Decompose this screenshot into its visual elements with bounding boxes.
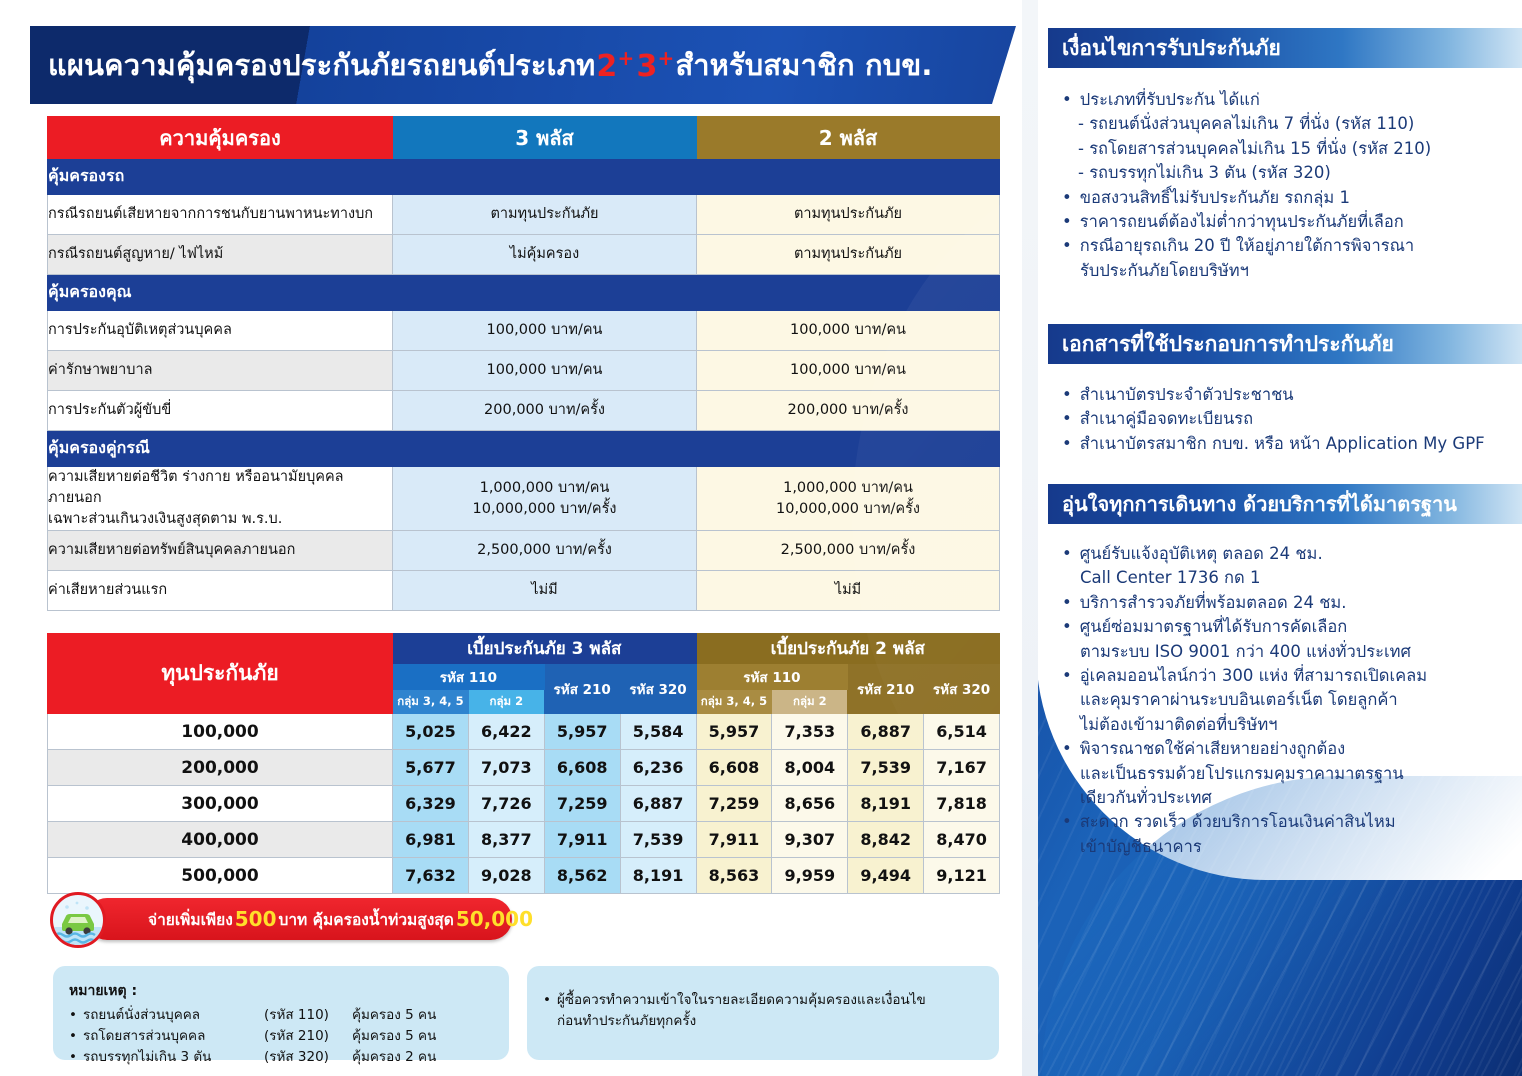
list-item: •ราคารถยนต์ต้องไม่ต่ำกว่าทุนประกันภัยที่… (1062, 210, 1522, 234)
coverage-row-label: ความเสียหายต่อทรัพย์สินบุคคลภายนอก (48, 531, 393, 571)
premium-g2-group345: กลุ่ม 3, 4, 5 (696, 690, 772, 714)
list-item-label: กรณีอายุรถเกิน 20 ปี ให้อยู่ภายใต้การพิจ… (1080, 234, 1414, 258)
note-item-cover: คุ้มครอง 5 คน (352, 1026, 436, 1047)
list-item-continuation: รับประกันภัยโดยบริษัทฯ (1062, 259, 1522, 283)
list-item: •ศูนย์รับแจ้งอุบัติเหตุ ตลอด 24 ชม. (1062, 542, 1522, 566)
table-row: 100,000 5,025 6,422 5,957 5,584 5,957 7,… (48, 714, 1000, 750)
bullet-icon: • (1062, 88, 1072, 112)
premium-sum-value: 200,000 (48, 750, 393, 786)
panel-left-strip (1022, 0, 1038, 1076)
premium-value: 9,494 (848, 858, 924, 894)
premium-value: 6,608 (544, 750, 620, 786)
list-item-continuation: ตามระบบ ISO 9001 กว่า 400 แห่งทั่วประเทศ (1062, 640, 1522, 664)
coverage-row-label: กรณีรถยนต์สูญหาย/ ไฟไหม้ (48, 235, 393, 275)
list-item: •พิจารณาชดใช้ค่าเสียหายอย่างถูกต้อง (1062, 737, 1522, 761)
list-sub-item: - รถยนต์นั่งส่วนบุคคลไม่เกิน 7 ที่นั่ง (… (1062, 112, 1522, 136)
section-body-documents: •สำเนาบัตรประจำตัวประชาชน •สำเนาคู่มือจด… (1062, 383, 1522, 456)
premium-value: 7,539 (620, 822, 696, 858)
list-item: •สำเนาบัตรสมาชิก กบข. หรือ หน้า Applicat… (1062, 432, 1522, 456)
coverage-row-label: กรณีรถยนต์เสียหายจากการชนกับยานพาหนะทางบ… (48, 195, 393, 235)
bullet-icon: • (1062, 234, 1072, 258)
section-heading-documents: เอกสารที่ใช้ประกอบการทำประกันภัย (1048, 324, 1522, 364)
premium-sum-header: ทุนประกันภัย (48, 634, 393, 714)
premium-value: 7,353 (772, 714, 848, 750)
section-body-conditions: •ประเภทที่รับประกัน ได้แก่ - รถยนต์นั่งส… (1062, 88, 1522, 283)
disclaimer-text: ผู้ซื้อควรทำความเข้าใจในรายละเอียดความคุ… (557, 990, 926, 1032)
note-item-cover: คุ้มครอง 5 คน (352, 1005, 436, 1026)
list-item-continuation: และคุมราคาผ่านระบบอินเตอร์เน็ต โดยลูกค้า (1062, 688, 1522, 712)
bullet-icon: • (1062, 432, 1072, 456)
bullet-icon: • (69, 1026, 77, 1047)
premium-value: 6,608 (696, 750, 772, 786)
list-item: •บริการสำรวจภัยที่พร้อมตลอด 24 ชม. (1062, 591, 1522, 615)
coverage-row-label: ค่ารักษาพยาบาล (48, 351, 393, 391)
premium-header-top: ทุนประกันภัย เบี้ยประกันภัย 3 พลัส เบี้ย… (48, 634, 1000, 664)
coverage-cell-plus3: 200,000 บาท/ครั้ง (393, 391, 697, 431)
premium-value: 8,842 (848, 822, 924, 858)
coverage-cell-plus3: 100,000 บาท/คน (393, 311, 697, 351)
table-row: กรณีรถยนต์สูญหาย/ ไฟไหม้ ไม่คุ้มครอง ตาม… (48, 235, 1000, 275)
table-row: กรณีรถยนต์เสียหายจากการชนกับยานพาหนะทางบ… (48, 195, 1000, 235)
coverage-header-label: ความคุ้มครอง (48, 117, 393, 159)
note-box-right: • ผู้ซื้อควรทำความเข้าใจในรายละเอียดความ… (527, 966, 999, 1060)
flood-text-3: บาท (535, 907, 564, 932)
coverage-header-plus2: 2 พลัส (697, 117, 1000, 159)
premium-value: 5,957 (696, 714, 772, 750)
premium-value: 7,726 (468, 786, 544, 822)
section-title-vehicle: คุ้มครองรถ (48, 159, 1000, 195)
list-item: •ประเภทที่รับประกัน ได้แก่ (1062, 88, 1522, 112)
note-item-name: รถยนต์นั่งส่วนบุคคล (83, 1005, 258, 1026)
table-row: การประกันตัวผู้ขับขี่ 200,000 บาท/ครั้ง … (48, 391, 1000, 431)
list-item-label: สำเนาบัตรประจำตัวประชาชน (1080, 383, 1294, 407)
disclaimer-line-1: ผู้ซื้อควรทำความเข้าใจในรายละเอียดความคุ… (557, 992, 926, 1008)
list-item-label: พิจารณาชดใช้ค่าเสียหายอย่างถูกต้อง (1080, 737, 1345, 761)
premium-value: 7,073 (468, 750, 544, 786)
coverage-header-row: ความคุ้มครอง 3 พลัส 2 พลัส (48, 117, 1000, 159)
coverage-row-label: การประกันอุบัติเหตุส่วนบุคคล (48, 311, 393, 351)
premium-value: 8,004 (772, 750, 848, 786)
bullet-icon: • (69, 1047, 77, 1068)
premium-sum-value: 100,000 (48, 714, 393, 750)
list-item: •ขอสงวนสิทธิ์ไม่รับประกันภัย รถกลุ่ม 1 (1062, 186, 1522, 210)
premium-value: 8,191 (848, 786, 924, 822)
bullet-icon: • (1062, 407, 1072, 431)
note-item-cover: คุ้มครอง 2 คน (352, 1047, 436, 1068)
flood-badge-pill: จ่ายเพิ่มเพียง 500 บาท คุ้มครองน้ำท่วมสู… (86, 898, 512, 940)
table-row: 300,000 6,329 7,726 7,259 6,887 7,259 8,… (48, 786, 1000, 822)
coverage-cell-plus3: 100,000 บาท/คน (393, 351, 697, 391)
coverage-section-header: คุ้มครองรถ (48, 159, 1000, 195)
list-item-continuation: Call Center 1736 กด 1 (1062, 566, 1522, 590)
premium-value: 7,911 (544, 822, 620, 858)
section-heading-conditions: เงื่อนไขการรับประกันภัย (1048, 28, 1522, 68)
badge-2plus: 2+ (595, 46, 635, 84)
premium-g2-group2: กลุ่ม 2 (772, 690, 848, 714)
page-title: แผนความคุ้มครองประกันภัยรถยนต์ประเภท 2+3… (48, 26, 1016, 104)
list-item: • ผู้ซื้อควรทำความเข้าใจในรายละเอียดความ… (543, 990, 983, 1032)
bullet-icon: • (69, 1005, 77, 1026)
table-row: 200,000 5,677 7,073 6,608 6,236 6,608 8,… (48, 750, 1000, 786)
premium-value: 5,957 (544, 714, 620, 750)
premium-value: 7,911 (696, 822, 772, 858)
premium-value: 8,562 (544, 858, 620, 894)
premium-value: 9,959 (772, 858, 848, 894)
section-body-services: •ศูนย์รับแจ้งอุบัติเหตุ ตลอด 24 ชม. Call… (1062, 542, 1522, 859)
bullet-icon: • (1062, 186, 1072, 210)
flood-text-1: จ่ายเพิ่มเพียง (148, 907, 233, 932)
list-item-label: สำเนาบัตรสมาชิก กบข. หรือ หน้า Applicati… (1080, 432, 1485, 456)
table-row: 400,000 6,981 8,377 7,911 7,539 7,911 9,… (48, 822, 1000, 858)
coverage-cell-plus3: ไม่มี (393, 571, 697, 611)
coverage-cell-plus2: ตามทุนประกันภัย (697, 195, 1000, 235)
note-left-title: หมายเหตุ : (69, 980, 493, 1002)
premium-value: 8,656 (772, 786, 848, 822)
note-item-code: (รหัส 320) (264, 1047, 346, 1068)
list-item-label: ราคารถยนต์ต้องไม่ต่ำกว่าทุนประกันภัยที่เ… (1080, 210, 1404, 234)
list-item-continuation: ไม่ต้องเข้ามาติดต่อที่บริษัทฯ (1062, 713, 1522, 737)
list-item-label: สะดวก รวดเร็ว ด้วยบริการโอนเงินค่าสินไหม (1080, 810, 1396, 834)
list-item: •กรณีอายุรถเกิน 20 ปี ให้อยู่ภายใต้การพิ… (1062, 234, 1522, 258)
disclaimer-line-2: ก่อนทำประกันภัยทุกครั้ง (557, 1013, 696, 1029)
note-box-left: หมายเหตุ : • รถยนต์นั่งส่วนบุคคล (รหัส 1… (53, 966, 509, 1060)
coverage-row-label: ความเสียหายต่อชีวิต ร่างกาย หรืออนามัยบุ… (48, 467, 393, 531)
table-row: 500,000 7,632 9,028 8,562 8,191 8,563 9,… (48, 858, 1000, 894)
coverage-cell-plus3: 2,500,000 บาท/ครั้ง (393, 531, 697, 571)
bullet-icon: • (1062, 664, 1072, 688)
list-item: •ศูนย์ซ่อมมาตรฐานที่ได้รับการคัดเลือก (1062, 615, 1522, 639)
bullet-icon: • (1062, 210, 1072, 234)
badge-3plus: 3+ (635, 46, 675, 84)
flood-text-2: บาท คุ้มครองน้ำท่วมสูงสุด (279, 907, 454, 932)
list-item: • รถบรรทุกไม่เกิน 3 ตัน (รหัส 320) คุ้มค… (69, 1047, 493, 1068)
premium-sum-value: 500,000 (48, 858, 393, 894)
premium-g3-group2: กลุ่ม 2 (468, 690, 544, 714)
list-item-continuation: และเป็นธรรมด้วยโปรแกรมคุมราคามาตรฐาน (1062, 762, 1522, 786)
title-prefix: แผนความคุ้มครองประกันภัยรถยนต์ประเภท (48, 42, 595, 88)
premium-sum-value: 300,000 (48, 786, 393, 822)
premium-value: 5,677 (393, 750, 469, 786)
premium-value: 7,539 (848, 750, 924, 786)
premium-value: 6,422 (468, 714, 544, 750)
coverage-header-plus3: 3 พลัส (393, 117, 697, 159)
premium-g3-group345: กลุ่ม 3, 4, 5 (393, 690, 469, 714)
list-item: •สะดวก รวดเร็ว ด้วยบริการโอนเงินค่าสินไห… (1062, 810, 1522, 834)
list-item-label: บริการสำรวจภัยที่พร้อมตลอด 24 ชม. (1080, 591, 1347, 615)
coverage-cell-plus3: 1,000,000 บาท/คน 10,000,000 บาท/ครั้ง (393, 467, 697, 531)
bullet-icon: • (1062, 383, 1072, 407)
bullet-icon: • (1062, 615, 1072, 639)
list-item-label: ประเภทที่รับประกัน ได้แก่ (1080, 88, 1260, 112)
premium-value: 6,329 (393, 786, 469, 822)
bullet-icon: • (1062, 591, 1072, 615)
premium-value: 6,236 (620, 750, 696, 786)
premium-value: 9,307 (772, 822, 848, 858)
premium-value: 7,259 (696, 786, 772, 822)
brochure-page: แผนความคุ้มครองประกันภัยรถยนต์ประเภท 2+3… (0, 0, 1522, 1076)
list-item: •สำเนาบัตรประจำตัวประชาชน (1062, 383, 1522, 407)
premium-value: 6,981 (393, 822, 469, 858)
premium-value: 9,121 (924, 858, 1000, 894)
premium-value: 8,191 (620, 858, 696, 894)
note-item-code: (รหัส 110) (264, 1005, 346, 1026)
coverage-cell-plus3: ไม่คุ้มครอง (393, 235, 697, 275)
premium-value: 8,563 (696, 858, 772, 894)
premium-value: 7,259 (544, 786, 620, 822)
premium-table: ทุนประกันภัย เบี้ยประกันภัย 3 พลัส เบี้ย… (47, 633, 1000, 894)
coverage-cell-plus3: ตามทุนประกันภัย (393, 195, 697, 235)
list-item-label: ขอสงวนสิทธิ์ไม่รับประกันภัย รถกลุ่ม 1 (1080, 186, 1350, 210)
premium-value: 6,887 (620, 786, 696, 822)
bullet-icon: • (1062, 737, 1072, 761)
premium-value: 5,025 (393, 714, 469, 750)
flood-amount-2: 50,000 (454, 907, 535, 931)
list-item-continuation: เดียวกันทั่วประเทศ (1062, 786, 1522, 810)
bullet-icon: • (543, 990, 551, 1032)
title-banner: แผนความคุ้มครองประกันภัยรถยนต์ประเภท 2+3… (30, 26, 1016, 104)
section-title-you: คุ้มครองคุณ (48, 275, 1000, 311)
premium-value: 5,584 (620, 714, 696, 750)
note-item-name: รถโดยสารส่วนบุคคล (83, 1026, 258, 1047)
premium-group3-header: เบี้ยประกันภัย 3 พลัส (393, 634, 697, 664)
flood-amount-1: 500 (233, 907, 279, 931)
coverage-section-header: คุ้มครองคุณ (48, 275, 1000, 311)
flood-coverage-badge: จ่ายเพิ่มเพียง 500 บาท คุ้มครองน้ำท่วมสู… (50, 898, 512, 940)
right-info-panel: เงื่อนไขการรับประกันภัย •ประเภทที่รับประ… (1022, 0, 1522, 1076)
premium-g3-code110: รหัส 110 (393, 664, 545, 690)
note-item-code: (รหัส 210) (264, 1026, 346, 1047)
premium-g3-code210: รหัส 210 (544, 664, 620, 714)
note-item-name: รถบรรทุกไม่เกิน 3 ตัน (83, 1047, 258, 1068)
list-item: •สำเนาคู่มือจดทะเบียนรถ (1062, 407, 1522, 431)
flooded-car-icon (50, 892, 106, 948)
coverage-row-label: ค่าเสียหายส่วนแรก (48, 571, 393, 611)
premium-sum-value: 400,000 (48, 822, 393, 858)
list-item-label: ศูนย์ซ่อมมาตรฐานที่ได้รับการคัดเลือก (1080, 615, 1348, 639)
coverage-row-label: การประกันตัวผู้ขับขี่ (48, 391, 393, 431)
premium-value: 9,028 (468, 858, 544, 894)
list-item-label: อู่เคลมออนไลน์กว่า 300 แห่ง ที่สามารถเปิ… (1080, 664, 1427, 688)
premium-g3-code320: รหัส 320 (620, 664, 696, 714)
list-item: • รถยนต์นั่งส่วนบุคคล (รหัส 110) คุ้มครอ… (69, 1005, 493, 1026)
title-suffix: สำหรับสมาชิก กบข. (676, 42, 933, 88)
list-item: •อู่เคลมออนไลน์กว่า 300 แห่ง ที่สามารถเป… (1062, 664, 1522, 688)
table-row: การประกันอุบัติเหตุส่วนบุคคล 100,000 บาท… (48, 311, 1000, 351)
section-heading-services: อุ่นใจทุกการเดินทาง ด้วยบริการที่ได้มาตร… (1048, 484, 1522, 524)
bullet-icon: • (1062, 542, 1072, 566)
list-sub-item: - รถบรรทุกไม่เกิน 3 ตัน (รหัส 320) (1062, 161, 1522, 185)
table-row: ค่ารักษาพยาบาล 100,000 บาท/คน 100,000 บา… (48, 351, 1000, 391)
premium-value: 7,632 (393, 858, 469, 894)
list-item-label: ศูนย์รับแจ้งอุบัติเหตุ ตลอด 24 ชม. (1080, 542, 1323, 566)
bullet-icon: • (1062, 810, 1072, 834)
list-item-label: สำเนาคู่มือจดทะเบียนรถ (1080, 407, 1253, 431)
list-item: • รถโดยสารส่วนบุคคล (รหัส 210) คุ้มครอง … (69, 1026, 493, 1047)
list-sub-item: - รถโดยสารส่วนบุคคลไม่เกิน 15 ที่นั่ง (ร… (1062, 137, 1522, 161)
premium-value: 8,377 (468, 822, 544, 858)
premium-g2-code110: รหัส 110 (696, 664, 848, 690)
list-item-continuation: เข้าบัญชีธนาคาร (1062, 835, 1522, 859)
